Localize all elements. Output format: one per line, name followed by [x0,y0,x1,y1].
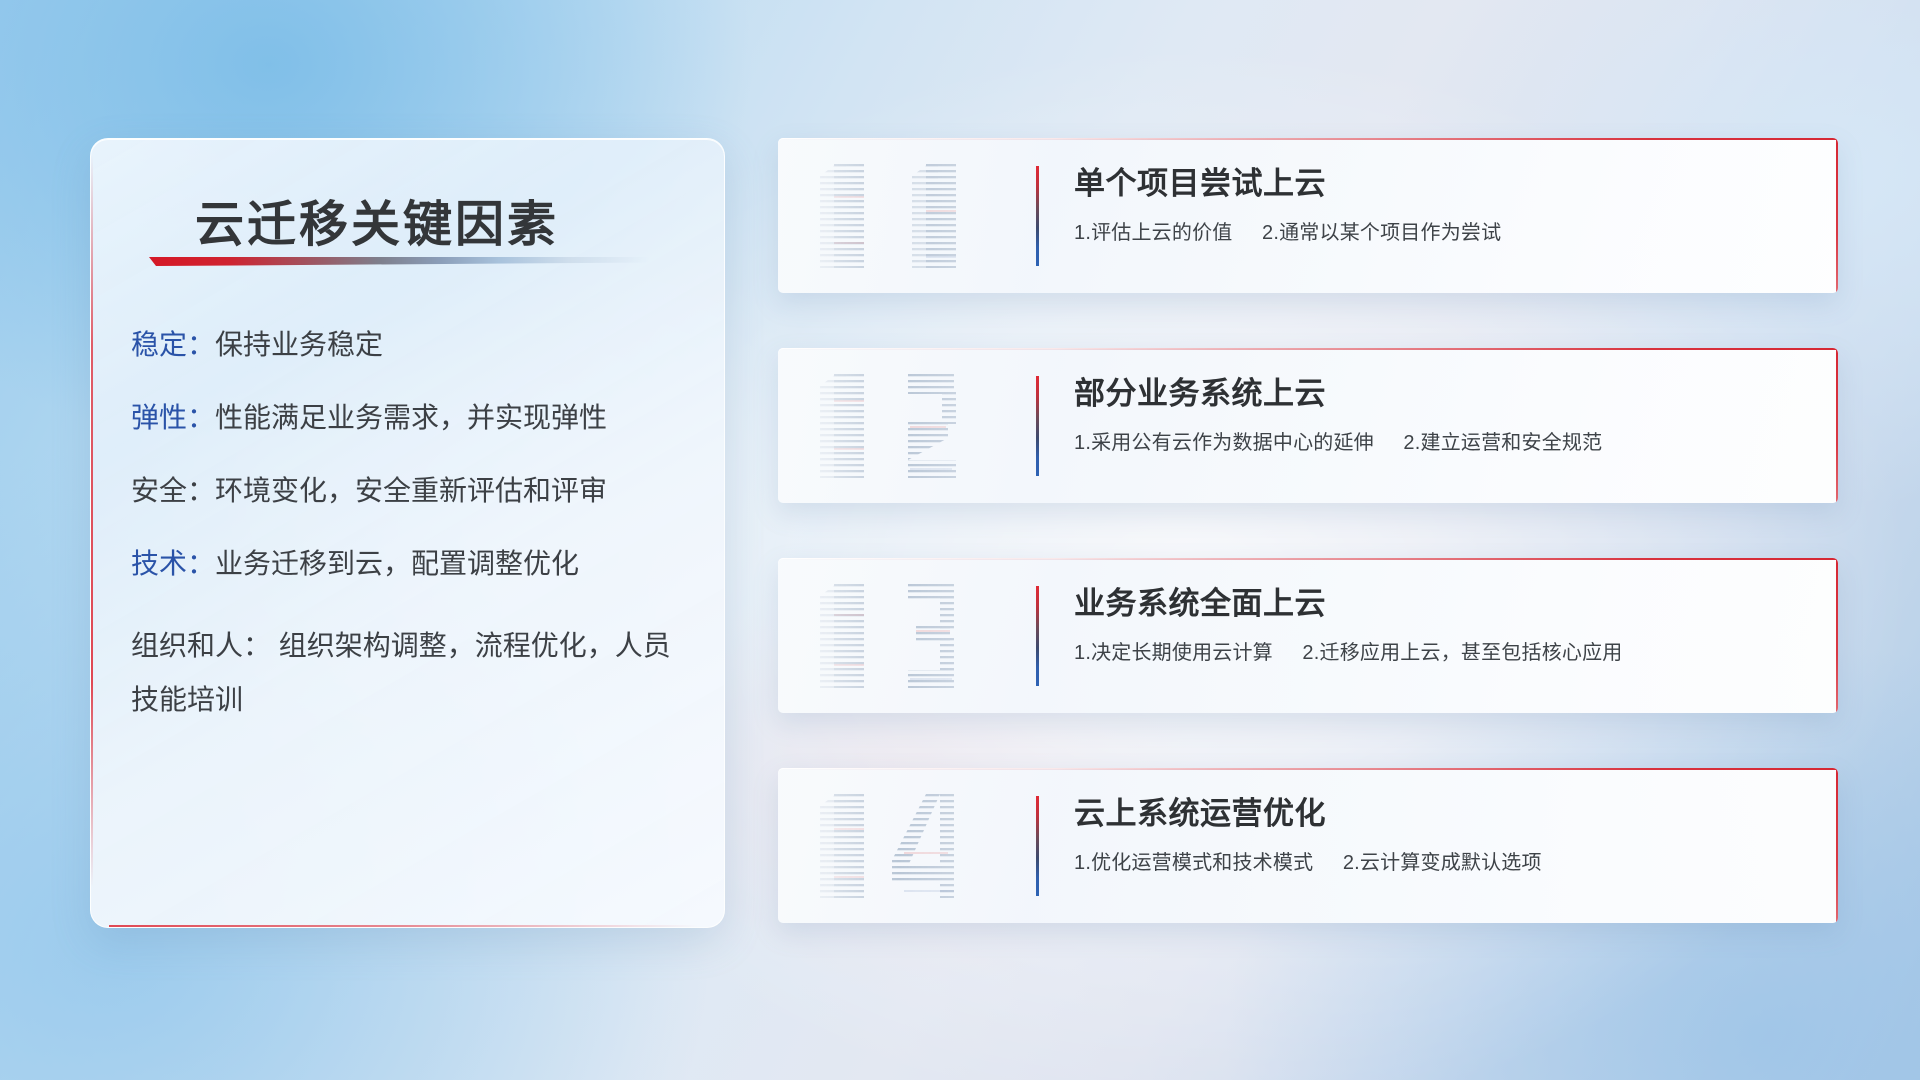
step-desc-part-1: 1.采用公有云作为数据中心的延伸 [1074,432,1374,454]
card-accent-bar [1036,166,1039,266]
step-desc-part-2: 2.通常以某个项目作为尝试 [1262,222,1501,244]
factor-text: 业务迁移到云，配置调整优化 [215,546,579,583]
card-right-accent-line [1836,558,1838,713]
factor-text: 性能满足业务需求，并实现弹性 [215,400,607,437]
step-card-03[interactable]: 业务系统全面上云 1.决定长期使用云计算 2.迁移应用上云，甚至包括核心应用 [778,558,1838,713]
step-card-02[interactable]: 部分业务系统上云 1.采用公有云作为数据中心的延伸 2.建立运营和安全规范 [778,348,1838,503]
step-card-body: 单个项目尝试上云 1.评估上云的价值 2.通常以某个项目作为尝试 [1074,164,1804,246]
step-numeral-01 [804,146,1014,286]
step-desc-part-1: 1.决定长期使用云计算 [1074,642,1273,664]
step-description: 1.采用公有云作为数据中心的延伸 2.建立运营和安全规范 [1074,430,1804,456]
step-heading: 业务系统全面上云 [1074,584,1804,624]
step-numeral-04 [804,776,1014,916]
factor-label: 稳定： [131,327,215,364]
step-numeral-03 [804,566,1014,706]
key-factors-panel: 云迁移关键因素 稳定： 保持业务稳定 弹性： 性能满足业务需求，并实现弹性 安全… [90,138,725,928]
card-top-accent-line [778,348,1838,350]
step-card-body: 部分业务系统上云 1.采用公有云作为数据中心的延伸 2.建立运营和安全规范 [1074,374,1804,456]
step-card-body: 业务系统全面上云 1.决定长期使用云计算 2.迁移应用上云，甚至包括核心应用 [1074,584,1804,666]
step-description: 1.决定长期使用云计算 2.迁移应用上云，甚至包括核心应用 [1074,640,1804,666]
key-factors-list: 稳定： 保持业务稳定 弹性： 性能满足业务需求，并实现弹性 安全： 环境变化，安… [131,327,690,728]
factor-text: 环境变化，安全重新评估和评审 [215,473,607,510]
factor-label: 弹性： [131,400,215,437]
migration-steps-list: 单个项目尝试上云 1.评估上云的价值 2.通常以某个项目作为尝试 [778,138,1838,923]
factor-label: 技术： [131,546,215,583]
step-description: 1.评估上云的价值 2.通常以某个项目作为尝试 [1074,220,1804,246]
step-numeral-02 [804,356,1014,496]
step-card-01[interactable]: 单个项目尝试上云 1.评估上云的价值 2.通常以某个项目作为尝试 [778,138,1838,293]
card-accent-bar [1036,586,1039,686]
card-accent-bar [1036,796,1039,896]
card-accent-bar [1036,376,1039,476]
step-heading: 云上系统运营优化 [1074,794,1804,834]
step-desc-part-2: 2.迁移应用上云，甚至包括核心应用 [1302,642,1622,664]
card-top-accent-line [778,138,1838,140]
step-card-04[interactable]: 云上系统运营优化 1.优化运营模式和技术模式 2.云计算变成默认选项 [778,768,1838,923]
title-underline-rule [149,257,649,266]
step-card-body: 云上系统运营优化 1.优化运营模式和技术模式 2.云计算变成默认选项 [1074,794,1804,876]
slide-stage: 云迁移关键因素 稳定： 保持业务稳定 弹性： 性能满足业务需求，并实现弹性 安全… [0,0,1920,1080]
list-item: 稳定： 保持业务稳定 [131,327,690,364]
step-desc-part-2: 2.云计算变成默认选项 [1343,852,1542,874]
step-heading: 单个项目尝试上云 [1074,164,1804,204]
factor-label: 安全： [131,473,215,510]
list-item: 弹性： 性能满足业务需求，并实现弹性 [131,400,690,437]
factor-label: 组织和人： [131,630,271,661]
card-right-accent-line [1836,768,1838,923]
card-right-accent-line [1836,138,1838,293]
step-description: 1.优化运营模式和技术模式 2.云计算变成默认选项 [1074,850,1804,876]
factor-text: 保持业务稳定 [215,327,383,364]
step-heading: 部分业务系统上云 [1074,374,1804,414]
list-item: 安全： 环境变化，安全重新评估和评审 [131,473,690,510]
card-right-accent-line [1836,348,1838,503]
list-item: 组织和人： 组织架构调整，流程优化，人员技能培训 [131,619,690,728]
list-item: 技术： 业务迁移到云，配置调整优化 [131,546,690,583]
card-top-accent-line [778,768,1838,770]
step-desc-part-1: 1.优化运营模式和技术模式 [1074,852,1313,874]
step-desc-part-2: 2.建立运营和安全规范 [1403,432,1602,454]
card-top-accent-line [778,558,1838,560]
page-title: 云迁移关键因素 [195,185,559,256]
step-desc-part-1: 1.评估上云的价值 [1074,222,1232,244]
